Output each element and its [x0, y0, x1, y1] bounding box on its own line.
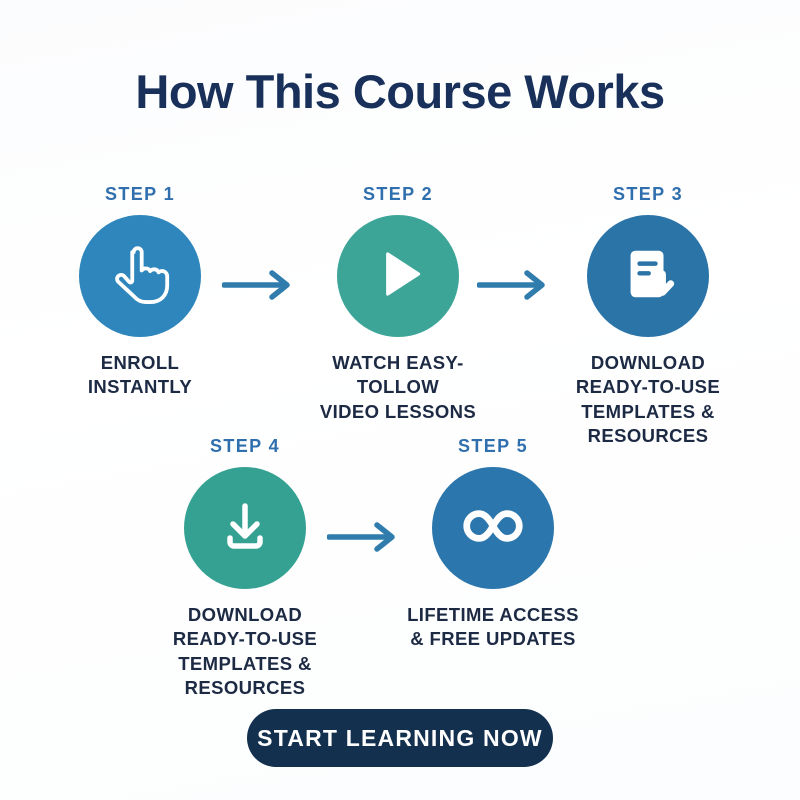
infinity-icon [460, 493, 526, 564]
start-learning-now-button[interactable]: START LEARNING NOW [247, 709, 553, 767]
step-4-label: STEP 4 [145, 436, 345, 457]
step-2-caption-line: VIDEO LESSONS [298, 400, 498, 424]
step-4-group: STEP 4 DOWNLOAD READY-TO-USE TEMPLATES &… [145, 436, 345, 701]
step-3-circle[interactable] [587, 215, 709, 337]
step-5-caption: LIFETIME ACCESS & FREE UPDATES [393, 603, 593, 652]
page-title: How This Course Works [0, 64, 800, 119]
step-5-label: STEP 5 [393, 436, 593, 457]
step-1-caption: ENROLL INSTANTLY [40, 351, 240, 400]
step-4-caption-line: READY-TO-USE [145, 627, 345, 651]
play-icon [365, 241, 431, 312]
arrow-step1-to-step2 [222, 270, 302, 300]
step-4-caption-line: DOWNLOAD [145, 603, 345, 627]
step-4-circle[interactable] [184, 467, 306, 589]
step-5-caption-line: & FREE UPDATES [393, 627, 593, 651]
step-1-caption-line: ENROLL [40, 351, 240, 375]
step-2-group: STEP 2 WATCH EASY-TOLLOW VIDEO LESSONS [298, 184, 498, 424]
step-3-caption-line: TEMPLATES & [548, 400, 748, 424]
step-4-caption-line: TEMPLATES & RESOURCES [145, 652, 345, 701]
step-5-group: STEP 5 LIFETIME ACCESS & FREE UPDATES [393, 436, 593, 652]
step-3-label: STEP 3 [548, 184, 748, 205]
pointing-hand-icon [106, 240, 174, 313]
step-3-group: STEP 3 DOWNLOAD READY-TO-USE TEMPLATES &… [548, 184, 748, 449]
step-2-label: STEP 2 [298, 184, 498, 205]
step-3-caption: DOWNLOAD READY-TO-USE TEMPLATES & RESOUR… [548, 351, 748, 449]
step-1-label: STEP 1 [40, 184, 240, 205]
document-download-icon [617, 243, 679, 310]
step-3-caption-line: READY-TO-USE [548, 375, 748, 399]
download-tray-icon [213, 494, 277, 563]
arrow-step2-to-step3 [477, 270, 557, 300]
step-2-caption: WATCH EASY-TOLLOW VIDEO LESSONS [298, 351, 498, 424]
step-1-circle[interactable] [79, 215, 201, 337]
step-2-caption-line: WATCH EASY-TOLLOW [298, 351, 498, 400]
step-1-group: STEP 1 ENROLL INSTANTLY [40, 184, 240, 400]
step-1-caption-line: INSTANTLY [40, 375, 240, 399]
step-2-circle[interactable] [337, 215, 459, 337]
step-3-caption-line: DOWNLOAD [548, 351, 748, 375]
step-5-circle[interactable] [432, 467, 554, 589]
step-5-caption-line: LIFETIME ACCESS [393, 603, 593, 627]
infographic-canvas: How This Course Works STEP 1 ENROLL INST… [0, 0, 800, 800]
step-4-caption: DOWNLOAD READY-TO-USE TEMPLATES & RESOUR… [145, 603, 345, 701]
